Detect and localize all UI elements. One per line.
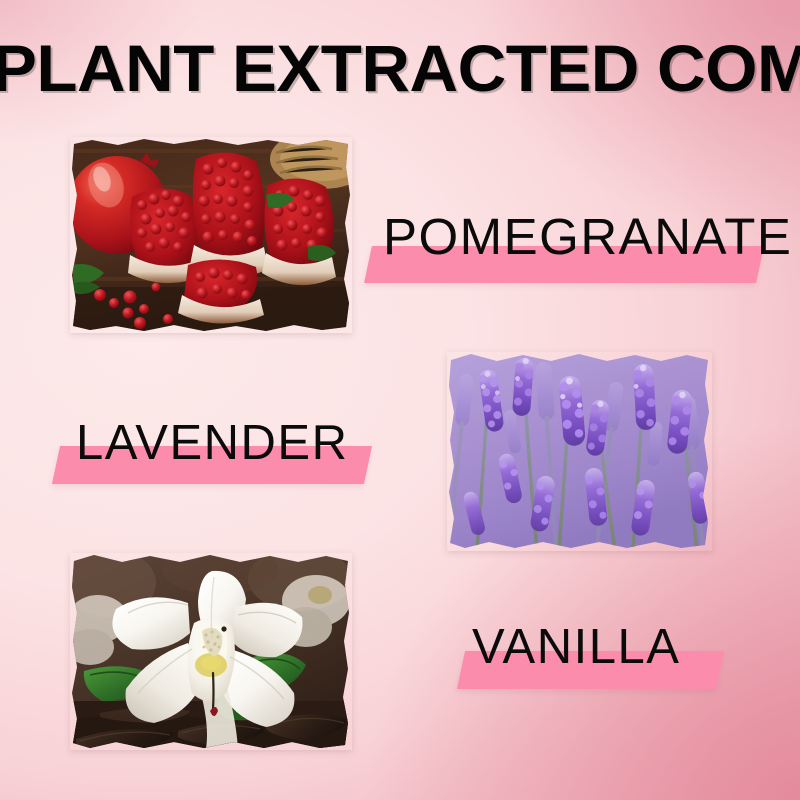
pomegranate-label: POMEGRANATE (383, 207, 792, 266)
vanilla-label: VANILLA (472, 619, 680, 675)
pomegranate-photo (70, 137, 352, 333)
poster-canvas: PLANT EXTRACTED COMPONENTS (0, 0, 800, 800)
poster-title: PLANT EXTRACTED COMPONENTS (0, 32, 800, 104)
lavender-label: LAVENDER (76, 415, 349, 471)
lavender-photo (447, 352, 712, 551)
vanilla-photo (70, 553, 352, 750)
